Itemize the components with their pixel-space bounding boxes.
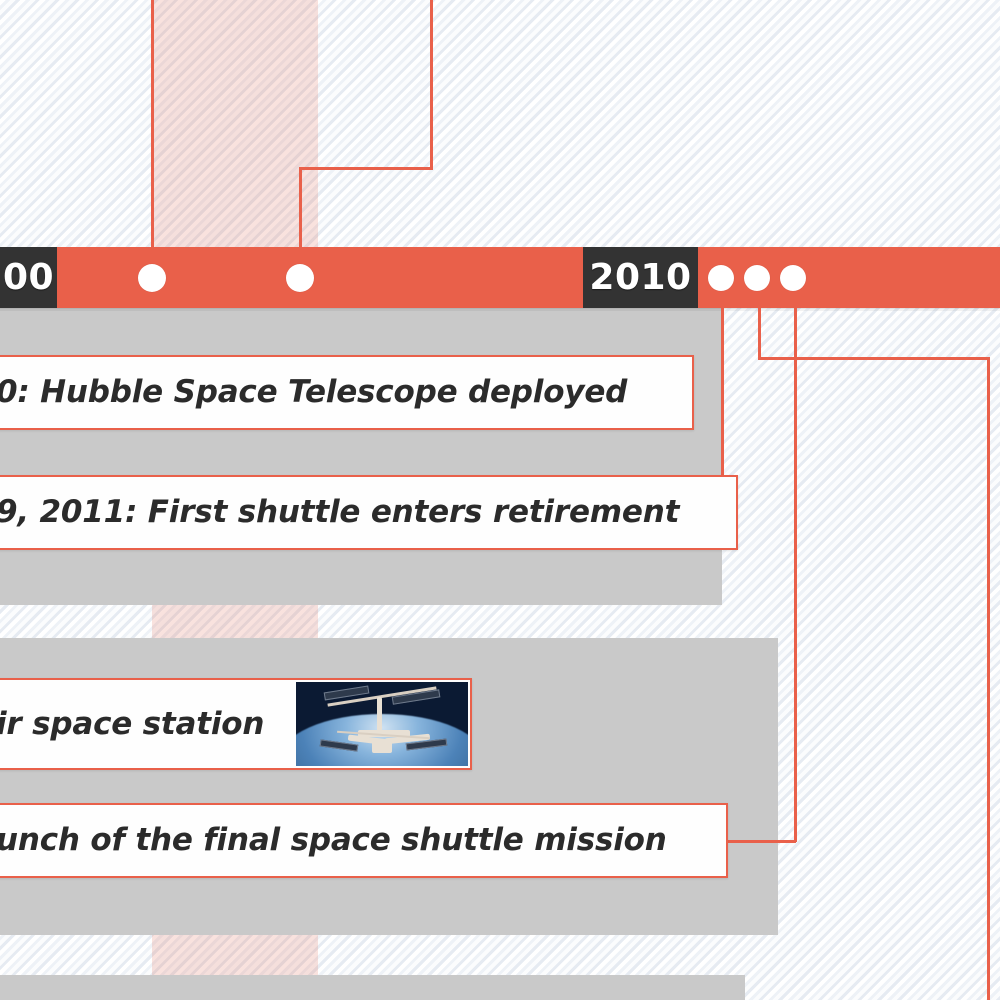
- connector-line-marker-4-stem: [758, 308, 761, 360]
- event-marker-3[interactable]: [708, 265, 734, 291]
- event-card-hubble[interactable]: 0: Hubble Space Telescope deployed: [0, 355, 694, 430]
- connector-line-marker-4-arm: [758, 357, 990, 360]
- space-station-thumbnail-image: [296, 682, 468, 766]
- axis-year-label-2010[interactable]: 2010: [583, 247, 698, 308]
- event-marker-2[interactable]: [286, 264, 314, 292]
- connector-line-final-card-arm: [726, 840, 796, 843]
- event-card-final-mission[interactable]: unch of the final space shuttle mission: [0, 803, 728, 878]
- axis-year-label-2000[interactable]: 00: [0, 247, 57, 308]
- connector-line-marker-5: [794, 308, 797, 842]
- connector-line-marker-2-arm: [299, 167, 433, 170]
- axis-drop-shadow: [0, 308, 1000, 311]
- connector-line-marker-2-stem: [299, 167, 302, 249]
- connector-line-marker-4-riser: [987, 357, 990, 1000]
- timeline-canvas: 00 2010 0: Hubble Space Telescope deploy…: [0, 0, 1000, 1000]
- lane-group-3: [0, 975, 745, 1000]
- event-marker-4[interactable]: [744, 265, 770, 291]
- event-marker-1[interactable]: [138, 264, 166, 292]
- event-card-mir-station-label: ir space station: [0, 709, 264, 740]
- connector-line-marker-1: [151, 0, 154, 249]
- event-marker-5[interactable]: [780, 265, 806, 291]
- event-card-first-retirement-label: 9, 2011: First shuttle enters retirement: [0, 497, 679, 528]
- event-card-hubble-label: 0: Hubble Space Telescope deployed: [0, 377, 627, 408]
- event-card-mir-station[interactable]: ir space station: [0, 678, 472, 770]
- connector-line-marker-2-riser: [430, 0, 433, 170]
- event-card-final-mission-label: unch of the final space shuttle mission: [0, 825, 667, 856]
- lane-group-1: [0, 308, 722, 605]
- event-card-first-retirement[interactable]: 9, 2011: First shuttle enters retirement: [0, 475, 738, 550]
